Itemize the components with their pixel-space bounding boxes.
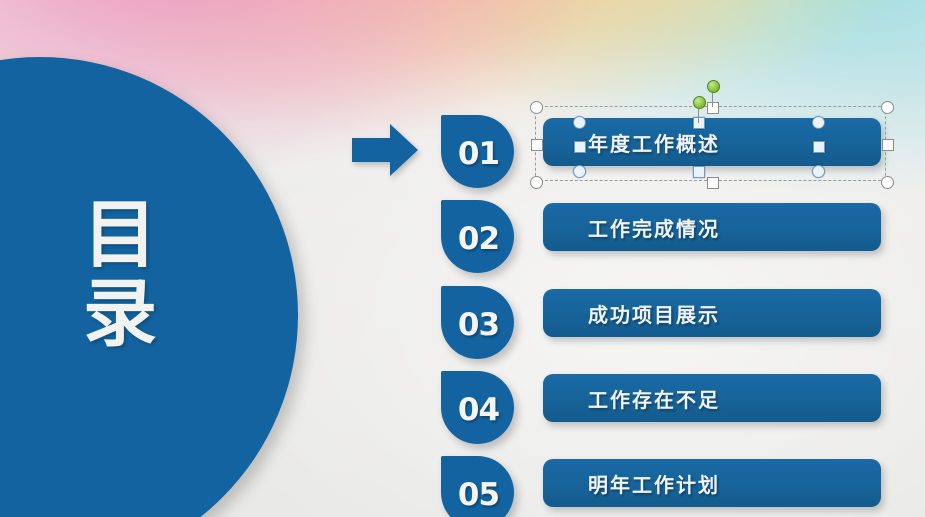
textbox-handle-top-center[interactable] <box>693 117 705 129</box>
agenda-row-02[interactable]: 02 工作完成情况 <box>441 195 891 279</box>
textbox-handle-bottom-left[interactable] <box>573 165 586 178</box>
agenda-number-02: 02 <box>458 221 499 257</box>
agenda-label-05: 明年工作计划 <box>588 469 720 498</box>
group-handle-top-center[interactable] <box>707 102 719 114</box>
agenda-row-03[interactable]: 03 成功项目展示 <box>441 281 891 365</box>
page-title: 目录 <box>58 196 188 354</box>
group-handle-middle-right[interactable] <box>882 139 894 151</box>
textbox-handle-bottom-right[interactable] <box>812 165 825 178</box>
agenda-number-05: 05 <box>458 477 499 513</box>
agenda-label-03: 成功项目展示 <box>588 299 720 328</box>
group-rotation-knob[interactable] <box>707 80 720 93</box>
textbox-handle-top-right[interactable] <box>812 116 825 129</box>
agenda-bar-03[interactable]: 成功项目展示 <box>543 289 881 337</box>
group-handle-bottom-center[interactable] <box>707 177 719 189</box>
group-handle-bottom-left[interactable] <box>530 176 543 189</box>
agenda-number-badge-01[interactable]: 01 <box>441 115 514 188</box>
textbox-handle-top-left[interactable] <box>573 116 586 129</box>
slide-canvas[interactable]: 目录 01 年度工作概述 02 工作完成情况 03 成功项目展示 <box>0 0 925 517</box>
textbox-handle-bottom-center[interactable] <box>693 166 705 178</box>
agenda-row-04[interactable]: 04 工作存在不足 <box>441 366 891 450</box>
agenda-label-02: 工作完成情况 <box>588 213 720 242</box>
agenda-number-01: 01 <box>458 136 499 172</box>
textbox-rotation-knob[interactable] <box>693 96 706 109</box>
group-handle-top-left[interactable] <box>530 101 543 114</box>
right-arrow-icon <box>352 124 418 176</box>
agenda-bar-02[interactable]: 工作完成情况 <box>543 203 881 251</box>
agenda-number-badge-05[interactable]: 05 <box>441 456 514 517</box>
agenda-label-04: 工作存在不足 <box>588 384 720 413</box>
agenda-number-badge-03[interactable]: 03 <box>441 286 514 359</box>
group-handle-bottom-right[interactable] <box>881 176 894 189</box>
agenda-number-04: 04 <box>458 392 499 428</box>
agenda-number-03: 03 <box>458 307 499 343</box>
agenda-number-badge-02[interactable]: 02 <box>441 200 514 273</box>
textbox-selection-frame[interactable] <box>579 122 818 171</box>
agenda-number-badge-04[interactable]: 04 <box>441 371 514 444</box>
group-handle-top-right[interactable] <box>881 101 894 114</box>
agenda-bar-04[interactable]: 工作存在不足 <box>543 374 881 422</box>
textbox-handle-middle-left[interactable] <box>574 141 586 153</box>
agenda-bar-05[interactable]: 明年工作计划 <box>543 459 881 507</box>
textbox-handle-middle-right[interactable] <box>813 141 825 153</box>
group-handle-middle-left[interactable] <box>531 139 543 151</box>
agenda-row-05[interactable]: 05 明年工作计划 <box>441 451 891 517</box>
